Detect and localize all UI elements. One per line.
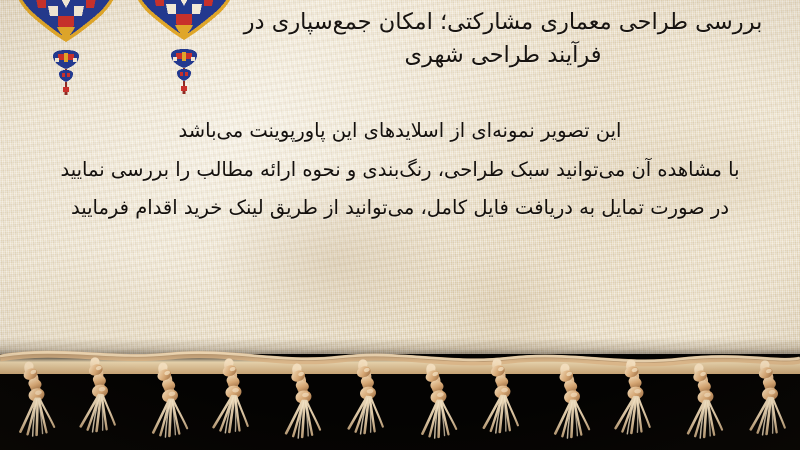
body-line-3: در صورت تمایل به دریافت فایل کامل، می‌تو… (6, 189, 794, 228)
body-line-2: با مشاهده آن می‌توانید سبک طراحی، رنگ‌بن… (6, 151, 794, 190)
slide-title: بررسی طراحی معماری مشارکتی؛ امکان جمع‌سپ… (220, 6, 786, 71)
slide-canvas: بررسی طراحی معماری مشارکتی؛ امکان جمع‌سپ… (0, 0, 800, 450)
body-line-1: این تصویر نمونه‌ای از اسلایدهای این پاور… (6, 112, 794, 151)
slide-body: این تصویر نمونه‌ای از اسلایدهای این پاور… (6, 112, 794, 228)
title-line-1: بررسی طراحی معماری مشارکتی؛ امکان جمع‌سپ… (220, 6, 786, 39)
carpet-fringe-tassels (0, 340, 800, 450)
fringe-icon (0, 340, 800, 450)
title-line-2: فرآیند طراحی شهری (220, 39, 786, 72)
